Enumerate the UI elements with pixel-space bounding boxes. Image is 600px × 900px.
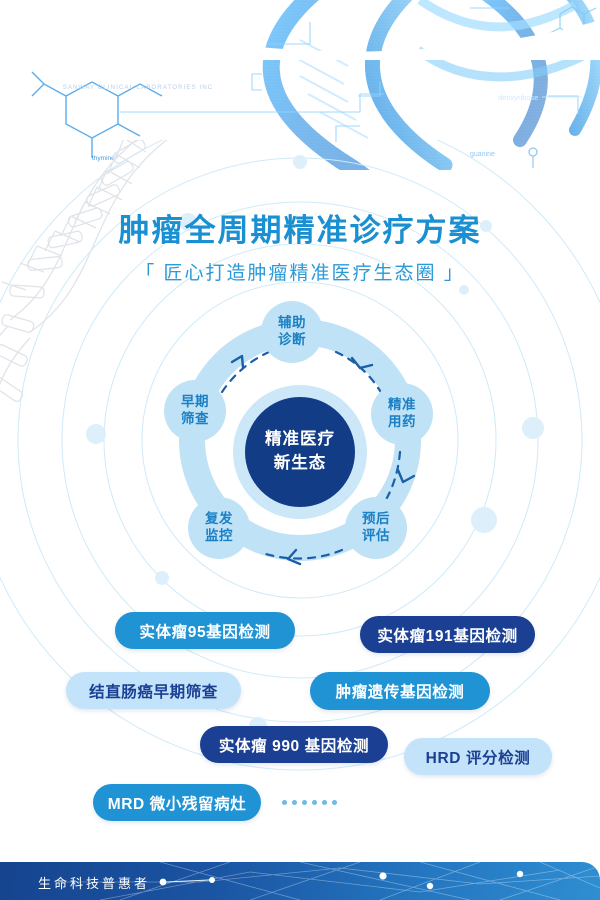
dna-outline-decor	[0, 140, 172, 440]
node-label-line1: 预后	[362, 511, 390, 528]
medical-cross-icon	[228, 21, 241, 34]
product-pill-solid-tumor-191[interactable]: 实体瘤191基因检测	[360, 616, 535, 653]
cycle-core: 精准医疗 新生态	[245, 397, 355, 507]
precision-medicine-cycle: 精准医疗 新生态 辅助 诊断 精准 用药 预后 评估 复发 监控	[160, 300, 440, 580]
product-pill-solid-tumor-95[interactable]: 实体瘤95基因检测	[115, 612, 295, 649]
node-label-line2: 用药	[388, 414, 416, 431]
page-title: 肿瘤全周期精准诊疗方案	[0, 205, 600, 250]
logo-wordmark: SANWAY	[70, 26, 205, 53]
logo-chinese-name: 圣维尔医学检验中心	[48, 66, 228, 83]
node-label-line2: 诊断	[278, 332, 306, 349]
page-subtitle: 「 匠心打造肿瘤精准医疗生态圈 」	[0, 258, 600, 285]
product-pill-hrd-score[interactable]: HRD 评分检测	[404, 738, 552, 775]
ellipsis-dots	[282, 800, 337, 805]
footer-bar: 生命科技普惠者	[0, 862, 600, 900]
node-label-line2: 筛查	[181, 411, 209, 428]
node-label-line2: 评估	[362, 528, 390, 545]
cycle-node-fuzhu-zhenduan[interactable]: 辅助 诊断	[261, 301, 323, 363]
cycle-core-line1: 精准医疗	[265, 428, 335, 452]
cycle-node-yuhou-pinggu[interactable]: 预后 评估	[345, 497, 407, 559]
node-label-line1: 精准	[388, 397, 416, 414]
cycle-node-jingzhun-yongyao[interactable]: 精准 用药	[371, 383, 433, 445]
poster-page: thymine deoxyribose guanine SANWAY 圣维尔医学…	[0, 0, 600, 900]
node-label-line1: 早期	[181, 394, 209, 411]
node-label-line1: 辅助	[278, 315, 306, 332]
cycle-node-zaoqi-shaicha[interactable]: 早期 筛查	[164, 380, 226, 442]
cycle-core-line2: 新生态	[274, 452, 327, 476]
product-pill-mrd-residual[interactable]: MRD 微小残留病灶	[93, 784, 261, 821]
cycle-node-fufa-jiankong[interactable]: 复发 监控	[188, 497, 250, 559]
node-label-line2: 监控	[205, 528, 233, 545]
footer-slogan: 生命科技普惠者	[38, 873, 150, 892]
logo-swoosh-divider	[52, 56, 224, 64]
brand-logo: SANWAY 圣维尔医学检验中心 SANWAY CLINICAL LABORAT…	[48, 26, 228, 91]
logo-english-name: SANWAY CLINICAL LABORATORIES INC	[48, 84, 228, 91]
product-pill-solid-tumor-990[interactable]: 实体瘤 990 基因检测	[200, 726, 388, 763]
product-pill-colorectal-early-screen[interactable]: 结直肠癌早期筛查	[66, 672, 241, 709]
product-pill-tumor-hereditary-gene[interactable]: 肿瘤遗传基因检测	[310, 672, 490, 710]
node-label-line1: 复发	[205, 511, 233, 528]
